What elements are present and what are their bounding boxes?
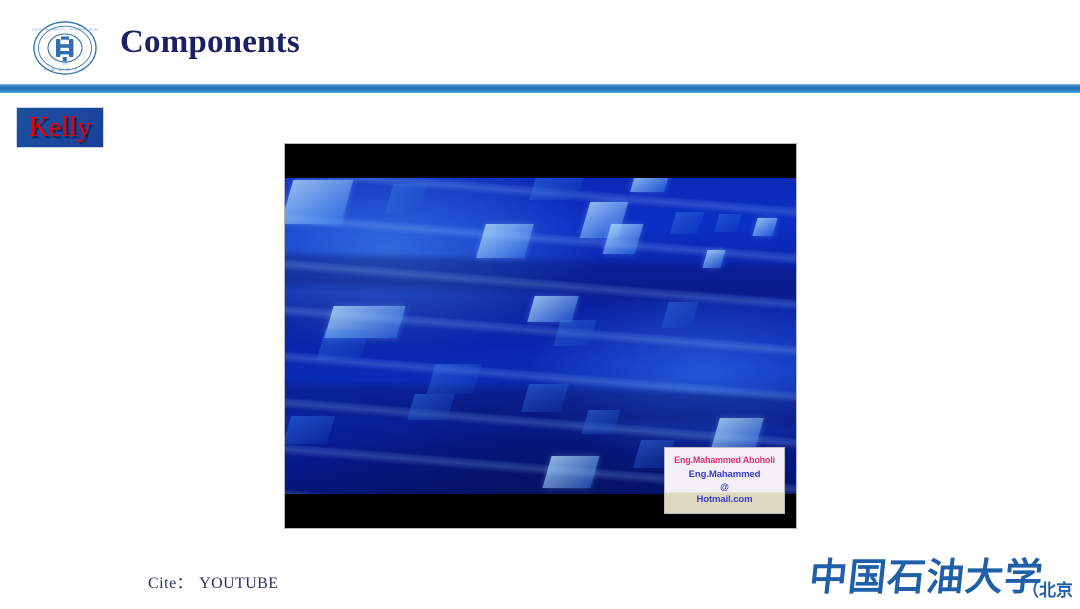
video-tile [529,178,584,200]
video-tile [521,384,569,412]
video-tile [582,410,621,434]
header-accent-bar [0,84,1080,93]
university-seal-icon: CHINA UNIVERSITY OF PETROLEUM 中 国 石 油 大 … [32,20,98,76]
video-tile [542,456,599,488]
watermark-line-1: Eng.Mahammed Aboholi [674,456,775,465]
kelly-label-box: Kelly [16,107,104,148]
watermark-line-2: Eng.Mahammed [689,470,761,480]
citation: Cite：YOUTUBE [148,569,278,593]
university-wordmark-logo: 中国石油大学 （北京） [800,552,1072,604]
kelly-label-text: Kelly [29,114,91,142]
video-tile [427,364,482,394]
video-watermark-panel: Eng.Mahammed Aboholi Eng.Mahammed @ Hotm… [664,447,785,514]
video-tile [630,178,670,192]
video-tile [285,416,335,444]
svg-text:中 国 石 油 大 学: 中 国 石 油 大 学 [44,67,87,72]
video-frame[interactable]: Eng.Mahammed Aboholi Eng.Mahammed @ Hotm… [285,144,796,528]
slide-header: CHINA UNIVERSITY OF PETROLEUM 中 国 石 油 大 … [0,0,1080,84]
presentation-slide: CHINA UNIVERSITY OF PETROLEUM 中 国 石 油 大 … [0,0,1080,608]
svg-text:CHINA UNIVERSITY OF PETROLEUM: CHINA UNIVERSITY OF PETROLEUM [32,28,98,32]
svg-text:1953: 1953 [62,62,68,66]
citation-value: YOUTUBE [199,575,278,592]
citation-label: Cite： [148,575,193,592]
video-tile [527,296,578,322]
svg-text:中国石油大学: 中国石油大学 [807,556,1045,599]
video-tile [407,394,454,420]
watermark-at-symbol: @ [720,483,729,492]
svg-text:（北京）: （北京） [1022,580,1072,600]
video-tile [553,320,596,346]
video-tile [476,224,534,258]
letterbox-top-bar [285,144,796,178]
page-title: Components [120,24,300,61]
watermark-line-4: Hotmail.com [697,495,753,505]
video-tile [317,330,370,360]
